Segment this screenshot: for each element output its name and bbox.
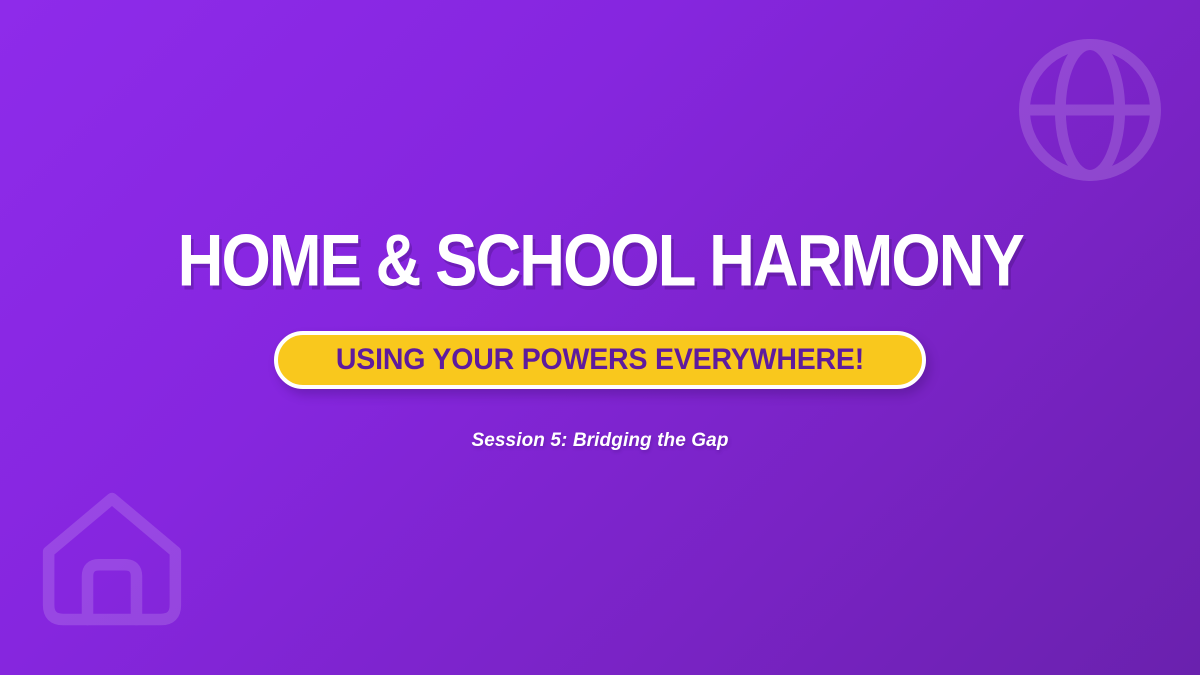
status-badge-label: USING YOUR POWERS EVERYWHERE!: [336, 345, 864, 375]
presentation-slide: HOME & SCHOOL HARMONY USING YOUR POWERS …: [0, 0, 1200, 675]
badge-row: USING YOUR POWERS EVERYWHERE!: [274, 331, 926, 389]
page-title: HOME & SCHOOL HARMONY: [177, 224, 1022, 297]
status-badge: USING YOUR POWERS EVERYWHERE!: [274, 331, 926, 389]
slide-content: HOME & SCHOOL HARMONY USING YOUR POWERS …: [0, 0, 1200, 675]
session-note: Session 5: Bridging the Gap: [471, 431, 728, 450]
